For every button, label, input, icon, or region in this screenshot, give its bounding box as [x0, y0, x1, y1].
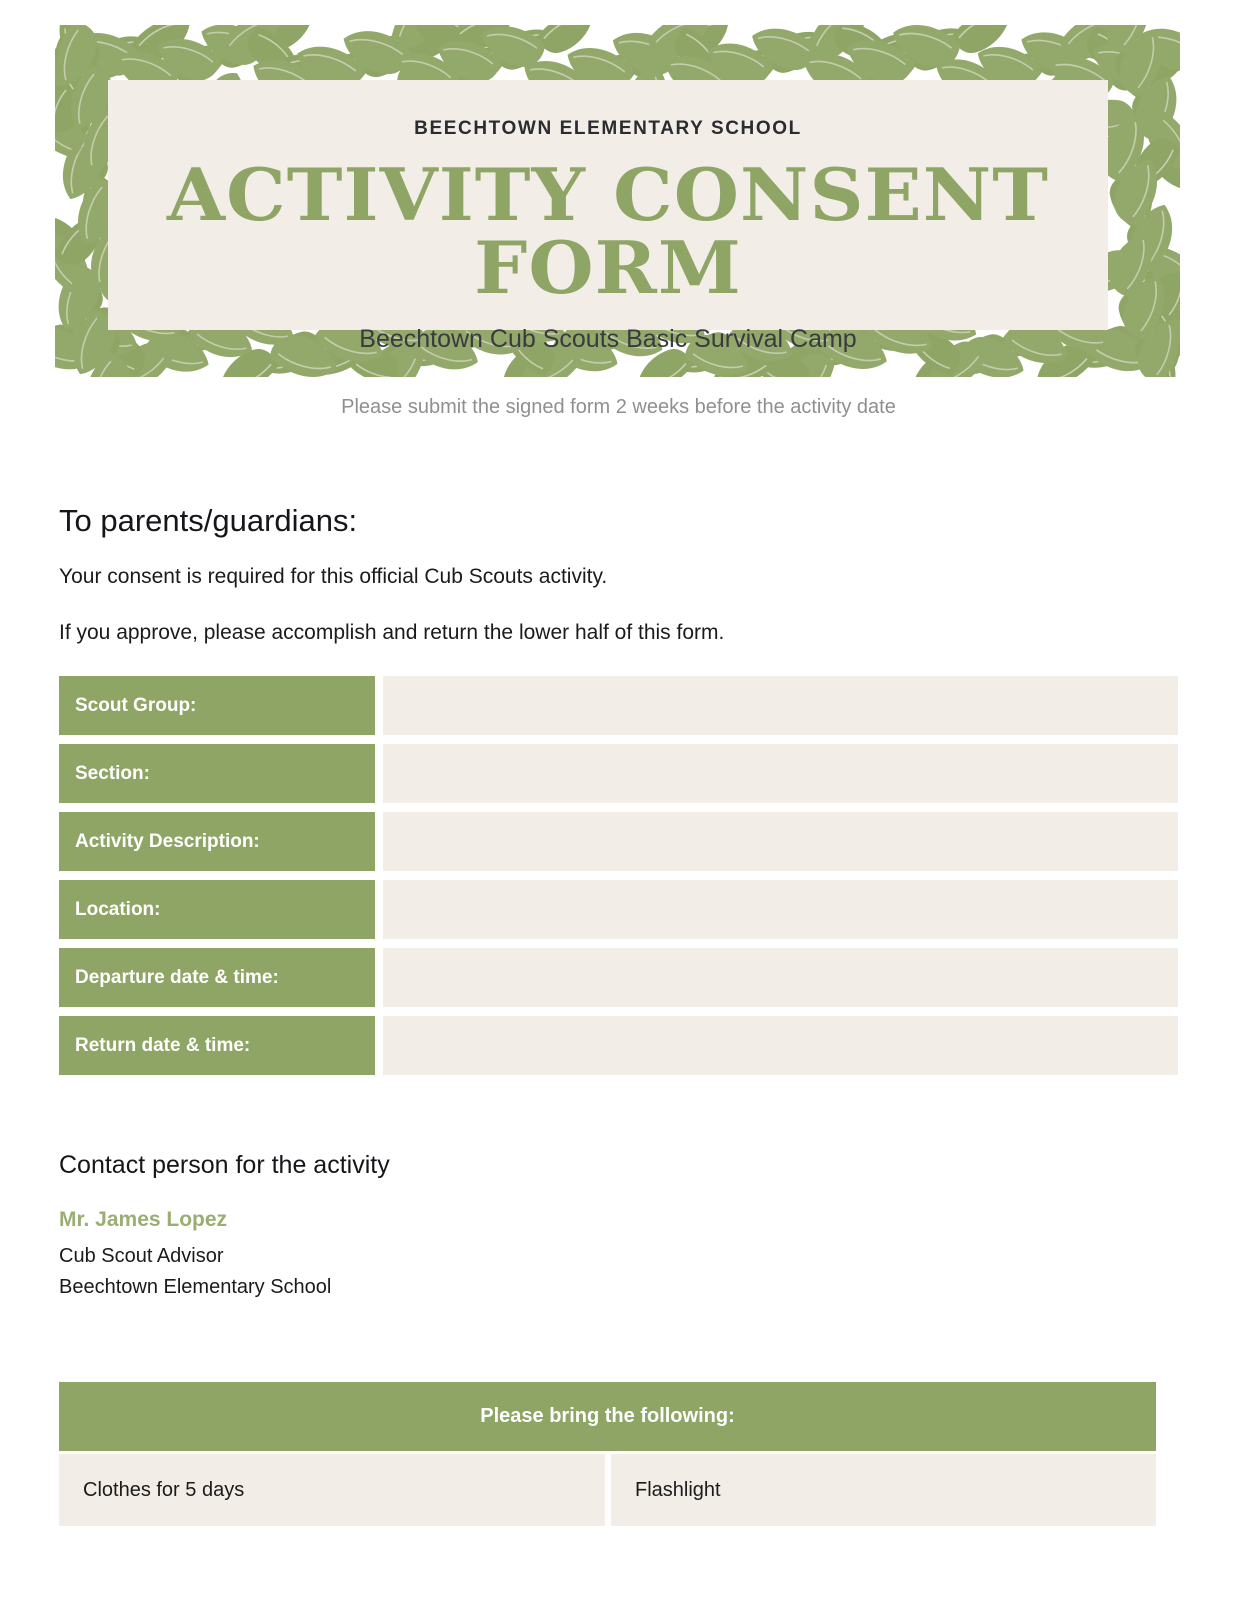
parents-paragraph-2: If you approve, please accomplish and re…: [59, 621, 724, 645]
field-input-return-date-time[interactable]: [383, 1016, 1178, 1075]
field-input-location[interactable]: [383, 880, 1178, 939]
table-row: Return date & time:: [59, 1016, 1178, 1075]
contact-heading: Contact person for the activity: [59, 1151, 390, 1180]
table-row: Activity Description:: [59, 812, 1178, 871]
header-card: BEECHTOWN ELEMENTARY SCHOOL ACTIVITY CON…: [108, 80, 1108, 330]
field-label-departure-date-time: Departure date & time:: [59, 948, 375, 1007]
submit-note: Please submit the signed form 2 weeks be…: [0, 396, 1237, 419]
contact-name: Mr. James Lopez: [59, 1208, 227, 1232]
field-label-scout-group: Scout Group:: [59, 676, 375, 735]
contact-role: Cub Scout Advisor: [59, 1245, 224, 1268]
table-row: Scout Group:: [59, 676, 1178, 735]
parents-heading: To parents/guardians:: [59, 503, 357, 539]
bring-item-2: Flashlight: [611, 1454, 1156, 1526]
header-banner: BEECHTOWN ELEMENTARY SCHOOL ACTIVITY CON…: [55, 25, 1180, 377]
activity-details-table: Scout Group: Section: Activity Descripti…: [59, 676, 1178, 1084]
parents-paragraph-1: Your consent is required for this offici…: [59, 565, 607, 589]
field-label-return-date-time: Return date & time:: [59, 1016, 375, 1075]
field-input-departure-date-time[interactable]: [383, 948, 1178, 1007]
table-row: Section:: [59, 744, 1178, 803]
bring-item-1: Clothes for 5 days: [59, 1454, 605, 1526]
contact-organization: Beechtown Elementary School: [59, 1276, 331, 1299]
table-row: Departure date & time:: [59, 948, 1178, 1007]
field-input-activity-description[interactable]: [383, 812, 1178, 871]
field-input-section[interactable]: [383, 744, 1178, 803]
school-name: BEECHTOWN ELEMENTARY SCHOOL: [414, 118, 802, 140]
table-row: Clothes for 5 days Flashlight: [59, 1454, 1156, 1526]
page-title: ACTIVITY CONSENT FORM: [88, 158, 1128, 305]
bring-list-header: Please bring the following:: [59, 1382, 1156, 1451]
table-row: Location:: [59, 880, 1178, 939]
page-subtitle: Beechtown Cub Scouts Basic Survival Camp: [359, 325, 856, 354]
field-input-scout-group[interactable]: [383, 676, 1178, 735]
field-label-activity-description: Activity Description:: [59, 812, 375, 871]
field-label-section: Section:: [59, 744, 375, 803]
field-label-location: Location:: [59, 880, 375, 939]
bring-list-table: Please bring the following: Clothes for …: [59, 1382, 1156, 1526]
